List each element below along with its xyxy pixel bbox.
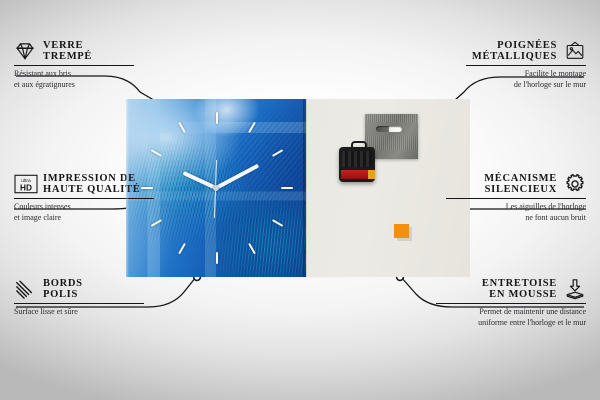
feature-sub-line1: Facilite le montage: [466, 69, 586, 80]
feature-sub-line2: ne font aucun bruit: [446, 213, 586, 224]
hour-tick: [141, 187, 153, 189]
foam-spacer-icon: [564, 278, 586, 300]
infographic-canvas: VERRE TREMPÉ Résistant aux bris et aux é…: [0, 0, 600, 400]
keyhole-slot: [376, 126, 402, 132]
gear-icon: [564, 173, 586, 195]
feature-sub-line2: uniforme entre l'horloge et le mur: [436, 318, 586, 329]
hour-tick: [248, 122, 256, 133]
mechanism-grill: [342, 151, 372, 167]
clock-mechanism: [339, 147, 375, 182]
feature-mecanisme-silencieux[interactable]: MÉCANISME SILENCIEUX Les aiguilles de l'…: [446, 173, 586, 224]
feature-entretoise-en-mousse[interactable]: ENTRETOISE EN MOUSSE Permet de maintenir…: [436, 278, 586, 329]
hour-tick: [281, 187, 293, 189]
divider: [466, 65, 586, 66]
clock-center-cap: [213, 185, 219, 191]
feature-sub-line2: de l'horloge sur le mur: [466, 80, 586, 91]
feature-poignees-metalliques[interactable]: POIGNÉES MÉTALLIQUES Facilite le montage…: [466, 40, 586, 91]
polished-edge-icon: [14, 278, 36, 300]
ultra-hd-icon: ultra HD: [14, 173, 36, 195]
feature-title-line1: POIGNÉES: [497, 40, 557, 51]
feature-subtitle: Permet de maintenir une distance uniform…: [436, 307, 586, 329]
hour-tick: [216, 112, 218, 124]
picture-hanger-icon: [564, 40, 586, 62]
feature-bords-polis[interactable]: BORDS POLIS Surface lisse et sûre: [14, 278, 144, 318]
foam-spacer: [394, 224, 409, 238]
svg-text:HD: HD: [20, 183, 32, 192]
feature-title-line2: EN MOUSSE: [489, 289, 557, 300]
feature-title-line2: POLIS: [43, 289, 78, 300]
feature-title-line1: MÉCANISME: [484, 173, 557, 184]
feature-subtitle: Surface lisse et sûre: [14, 307, 144, 318]
divider: [14, 303, 144, 304]
feature-verre-trempe[interactable]: VERRE TREMPÉ Résistant aux bris et aux é…: [14, 40, 134, 91]
feature-title-line2: MÉTALLIQUES: [472, 51, 557, 62]
feature-subtitle: Les aiguilles de l'horloge ne font aucun…: [446, 202, 586, 224]
divider: [14, 65, 134, 66]
hour-tick: [272, 149, 283, 157]
feature-subtitle: Facilite le montage de l'horloge sur le …: [466, 69, 586, 91]
clock-front-panel: [126, 99, 306, 277]
mechanism-shaft: [351, 141, 367, 152]
clock-minute-hand: [215, 164, 259, 190]
hour-tick: [151, 219, 162, 227]
feature-title-line2: SILENCIEUX: [485, 184, 557, 195]
diamond-icon: [14, 40, 36, 62]
feature-title-line1: BORDS: [43, 278, 83, 289]
hour-tick: [178, 122, 186, 133]
divider: [436, 303, 586, 304]
feature-sub-line1: Résistant aux bris: [14, 69, 134, 80]
hour-tick: [151, 149, 162, 157]
feature-subtitle: Résistant aux bris et aux égratignures: [14, 69, 134, 91]
feature-sub-line1: Les aiguilles de l'horloge: [446, 202, 586, 213]
hour-tick: [272, 219, 283, 227]
hour-tick: [248, 243, 256, 254]
divider: [446, 198, 586, 199]
hour-tick: [216, 252, 218, 264]
feature-title-line2: TREMPÉ: [43, 51, 92, 62]
clock-hour-hand: [183, 171, 217, 190]
feature-sub-line1: Permet de maintenir une distance: [436, 307, 586, 318]
battery-label: [341, 170, 371, 179]
feature-sub-line2: et aux égratignures: [14, 80, 134, 91]
hour-tick: [178, 243, 186, 254]
battery-terminal: [368, 170, 375, 179]
feature-title-line1: VERRE: [43, 40, 83, 51]
clock-dial: [126, 99, 306, 277]
feature-title-line1: IMPRESSION DE: [43, 173, 136, 184]
product-image: [126, 99, 470, 277]
feature-sub-line1: Surface lisse et sûre: [14, 307, 144, 318]
feature-title-line1: ENTRETOISE: [482, 278, 557, 289]
